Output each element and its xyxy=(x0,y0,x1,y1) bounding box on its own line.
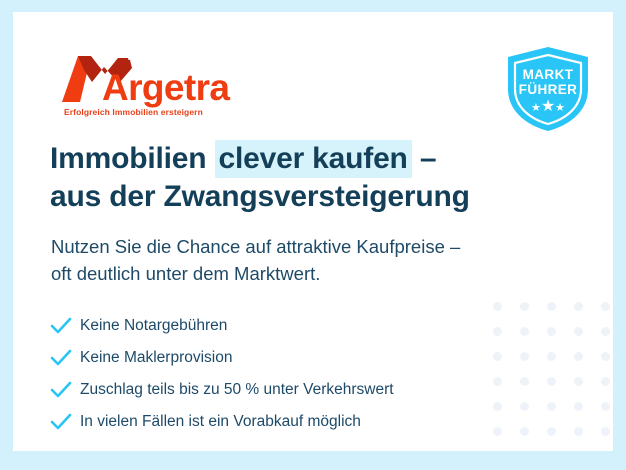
star-icon: ★ xyxy=(541,98,555,115)
benefits-list: Keine Notargebühren Keine Maklerprovisio… xyxy=(50,310,520,438)
dot xyxy=(520,352,529,361)
check-icon xyxy=(50,315,80,337)
dot xyxy=(547,402,556,411)
badge-stars: ★★★ xyxy=(502,99,594,115)
check-icon xyxy=(50,347,80,369)
badge-line-2: FÜHRER xyxy=(502,82,594,97)
dot xyxy=(547,327,556,336)
dot xyxy=(520,327,529,336)
list-item-label: Keine Maklerprovision xyxy=(80,350,233,366)
dot xyxy=(520,427,529,436)
check-icon xyxy=(50,411,80,433)
dot xyxy=(520,302,529,311)
headline-line-1: Immobilien clever kaufen – xyxy=(50,140,570,178)
list-item: Keine Maklerprovision xyxy=(50,342,520,374)
dot xyxy=(574,352,583,361)
dot xyxy=(601,427,610,436)
subtitle-line-2: oft deutlich unter dem Marktwert. xyxy=(51,261,551,288)
dot xyxy=(601,352,610,361)
headline-text-after: – xyxy=(412,142,437,175)
list-item-label: Zuschlag teils bis zu 50 % unter Verkehr… xyxy=(80,382,394,398)
dot xyxy=(547,302,556,311)
dot xyxy=(574,377,583,386)
list-item-label: Keine Notargebühren xyxy=(80,318,227,334)
dot xyxy=(520,402,529,411)
star-icon: ★ xyxy=(531,102,541,114)
dot xyxy=(574,302,583,311)
dot xyxy=(574,402,583,411)
star-icon: ★ xyxy=(555,102,565,114)
promo-card: Argetra Erfolgreich Immobilien ersteiger… xyxy=(13,12,613,451)
dot xyxy=(547,427,556,436)
list-item: In vielen Fällen ist ein Vorabkauf mögli… xyxy=(50,406,520,438)
dot xyxy=(547,377,556,386)
badge-line-1: MARKT xyxy=(502,67,594,82)
dot xyxy=(601,402,610,411)
argetra-wordmark: Argetra xyxy=(102,69,229,106)
list-item-label: In vielen Fällen ist ein Vorabkauf mögli… xyxy=(80,414,361,430)
headline-line-2: aus der Zwangsversteigerung xyxy=(50,178,570,216)
headline-text-before: Immobilien xyxy=(50,142,215,175)
argetra-logo[interactable]: Argetra Erfolgreich Immobilien ersteiger… xyxy=(58,52,248,120)
subtitle-line-1: Nutzen Sie die Chance auf attraktive Kau… xyxy=(51,234,551,261)
dot xyxy=(574,427,583,436)
dot xyxy=(601,377,610,386)
page-frame: Argetra Erfolgreich Immobilien ersteiger… xyxy=(0,0,626,470)
headline-highlight: clever kaufen xyxy=(215,140,412,178)
argetra-tagline: Erfolgreich Immobilien ersteigern xyxy=(64,107,203,117)
list-item: Keine Notargebühren xyxy=(50,310,520,342)
dot xyxy=(574,327,583,336)
dot xyxy=(601,327,610,336)
dot xyxy=(547,352,556,361)
dot xyxy=(601,302,610,311)
list-item: Zuschlag teils bis zu 50 % unter Verkehr… xyxy=(50,374,520,406)
check-icon xyxy=(50,379,80,401)
page-title: Immobilien clever kaufen – aus der Zwang… xyxy=(50,140,570,215)
dot xyxy=(520,377,529,386)
page-subtitle: Nutzen Sie die Chance auf attraktive Kau… xyxy=(51,234,551,288)
market-leader-badge: MARKT FÜHRER ★★★ xyxy=(502,45,594,133)
